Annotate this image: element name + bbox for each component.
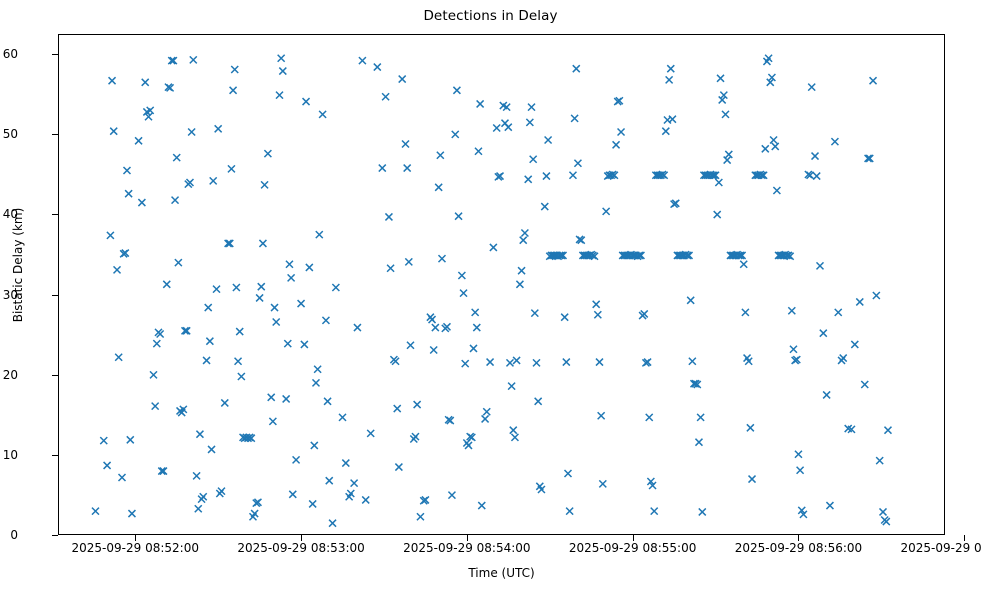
y-axis-label: Bistatic Delay (km) bbox=[11, 15, 25, 515]
scatter-point bbox=[714, 211, 721, 218]
scatter-point bbox=[326, 477, 333, 484]
x-tick-mark bbox=[964, 535, 965, 541]
scatter-point bbox=[613, 141, 620, 148]
scatter-point bbox=[666, 76, 673, 83]
scatter-point bbox=[354, 324, 361, 331]
scatter-point bbox=[264, 150, 271, 157]
scatter-point bbox=[667, 65, 674, 72]
scatter-point bbox=[561, 314, 568, 321]
scatter-point bbox=[119, 474, 126, 481]
scatter-point bbox=[448, 492, 455, 499]
scatter-point bbox=[387, 265, 394, 272]
scatter-point bbox=[483, 408, 490, 415]
scatter-point bbox=[510, 427, 517, 434]
scatter-point bbox=[884, 427, 891, 434]
scatter-point bbox=[203, 357, 210, 364]
scatter-point bbox=[311, 442, 318, 449]
scatter-point bbox=[772, 143, 779, 150]
chart-figure: Detections in Delay Bistatic Delay (km) … bbox=[0, 0, 981, 590]
scatter-point bbox=[135, 137, 142, 144]
scatter-point bbox=[379, 165, 386, 172]
scatter-point bbox=[200, 493, 207, 500]
scatter-point bbox=[873, 292, 880, 299]
scatter-point bbox=[646, 414, 653, 421]
scatter-point bbox=[861, 381, 868, 388]
x-tick-mark bbox=[135, 535, 136, 541]
scatter-point bbox=[687, 297, 694, 304]
scatter-point bbox=[206, 338, 213, 345]
x-tick-mark bbox=[633, 535, 634, 541]
scatter-point bbox=[230, 87, 237, 94]
scatter-point bbox=[531, 310, 538, 317]
scatter-point bbox=[342, 460, 349, 467]
scatter-point bbox=[545, 137, 552, 144]
scatter-point bbox=[533, 359, 540, 366]
scatter-point bbox=[516, 281, 523, 288]
scatter-point bbox=[324, 398, 331, 405]
scatter-point bbox=[407, 342, 414, 349]
scatter-point bbox=[173, 154, 180, 161]
scatter-point bbox=[543, 173, 550, 180]
scatter-point bbox=[508, 383, 515, 390]
scatter-point bbox=[329, 520, 336, 527]
scatter-point bbox=[172, 197, 179, 204]
scatter-point bbox=[238, 373, 245, 380]
scatter-point bbox=[452, 131, 459, 138]
scatter-point bbox=[359, 57, 366, 64]
y-tick-label: 60 bbox=[0, 48, 18, 60]
scatter-point bbox=[306, 264, 313, 271]
scatter-point bbox=[289, 491, 296, 498]
scatter-point bbox=[566, 508, 573, 515]
scatter-point bbox=[312, 379, 319, 386]
scatter-point bbox=[725, 151, 732, 158]
scatter-point bbox=[493, 124, 500, 131]
scatter-point bbox=[747, 424, 754, 431]
scatter-point bbox=[460, 290, 467, 297]
scatter-point bbox=[127, 436, 134, 443]
scatter-point bbox=[175, 259, 182, 266]
x-tick-mark bbox=[798, 535, 799, 541]
scatter-point bbox=[288, 274, 295, 281]
scatter-point bbox=[770, 137, 777, 144]
scatter-point bbox=[724, 157, 731, 164]
scatter-point bbox=[278, 55, 285, 62]
scatter-point bbox=[259, 240, 266, 247]
scatter-point bbox=[314, 366, 321, 373]
scatter-point bbox=[268, 394, 275, 401]
scatter-point bbox=[823, 391, 830, 398]
scatter-point bbox=[332, 284, 339, 291]
scatter-point bbox=[594, 311, 601, 318]
scatter-point bbox=[835, 309, 842, 316]
scatter-point bbox=[599, 480, 606, 487]
scatter-point bbox=[153, 340, 160, 347]
scatter-point bbox=[473, 324, 480, 331]
scatter-point bbox=[465, 442, 472, 449]
scatter-point bbox=[528, 104, 535, 111]
scatter-point bbox=[563, 359, 570, 366]
scatter-point bbox=[115, 354, 122, 361]
x-tick-label: 2025-09-29 08:57:00 bbox=[844, 542, 981, 554]
scatter-point bbox=[618, 128, 625, 135]
scatter-point bbox=[574, 160, 581, 167]
scatter-point bbox=[362, 496, 369, 503]
scatter-point bbox=[697, 414, 704, 421]
y-tick-mark bbox=[52, 535, 58, 536]
scatter-point bbox=[188, 128, 195, 135]
scatter-point bbox=[92, 508, 99, 515]
scatter-point bbox=[210, 177, 217, 184]
scatter-point bbox=[879, 508, 886, 515]
scatter-point bbox=[432, 324, 439, 331]
scatter-point bbox=[526, 119, 533, 126]
scatter-point bbox=[790, 346, 797, 353]
scatter-point bbox=[402, 141, 409, 148]
scatter-point bbox=[870, 77, 877, 84]
scatter-point bbox=[505, 124, 512, 131]
scatter-point bbox=[717, 75, 724, 82]
scatter-point bbox=[511, 434, 518, 441]
scatter-point bbox=[374, 64, 381, 71]
scatter-point bbox=[339, 414, 346, 421]
scatter-point bbox=[573, 65, 580, 72]
scatter-point bbox=[412, 433, 419, 440]
scatter-point bbox=[840, 355, 847, 362]
scatter-point bbox=[593, 301, 600, 308]
scatter-point bbox=[535, 398, 542, 405]
chart-title: Detections in Delay bbox=[0, 8, 981, 24]
scatter-point bbox=[405, 258, 412, 265]
scatter-point bbox=[470, 345, 477, 352]
plot-area bbox=[58, 34, 945, 535]
scatter-point bbox=[455, 213, 462, 220]
scatter-point bbox=[773, 187, 780, 194]
scatter-point bbox=[196, 431, 203, 438]
scatter-point bbox=[487, 359, 494, 366]
y-tick-label: 40 bbox=[0, 208, 18, 220]
scatter-point bbox=[669, 116, 676, 123]
scatter-point bbox=[742, 309, 749, 316]
scatter-point bbox=[279, 68, 286, 75]
scatter-point bbox=[213, 286, 220, 293]
scatter-point bbox=[851, 341, 858, 348]
scatter-point bbox=[235, 358, 242, 365]
scatter-point bbox=[114, 266, 121, 273]
scatter-point bbox=[394, 405, 401, 412]
scatter-point bbox=[820, 330, 827, 337]
scatter-point bbox=[385, 213, 392, 220]
scatter-point bbox=[150, 371, 157, 378]
scatter-point bbox=[218, 488, 225, 495]
scatter-point bbox=[271, 304, 278, 311]
scatter-point bbox=[258, 283, 265, 290]
scatter-point bbox=[603, 208, 610, 215]
scatter-point bbox=[273, 318, 280, 325]
scatter-point bbox=[876, 457, 883, 464]
scatter-point bbox=[316, 231, 323, 238]
scatter-point bbox=[722, 111, 729, 118]
scatter-point bbox=[518, 267, 525, 274]
scatter-point bbox=[100, 437, 107, 444]
scatter-point bbox=[797, 467, 804, 474]
scatter-point bbox=[453, 87, 460, 94]
scatter-point bbox=[477, 100, 484, 107]
scatter-point bbox=[831, 138, 838, 145]
scatter-point bbox=[236, 328, 243, 335]
scatter-point bbox=[437, 152, 444, 159]
scatter-point bbox=[231, 66, 238, 73]
scatter-point bbox=[152, 403, 159, 410]
scatter-point bbox=[816, 262, 823, 269]
scatter-point bbox=[715, 179, 722, 186]
scatter-point bbox=[190, 56, 197, 63]
y-tick-label: 20 bbox=[0, 369, 18, 381]
scatter-point bbox=[521, 229, 528, 236]
scatter-point bbox=[233, 284, 240, 291]
scatter-point bbox=[541, 203, 548, 210]
scatter-point bbox=[109, 77, 116, 84]
scatter-point bbox=[812, 153, 819, 160]
scatter-point bbox=[293, 456, 300, 463]
scatter-point bbox=[438, 255, 445, 262]
scatter-point bbox=[530, 156, 537, 163]
scatter-point bbox=[788, 307, 795, 314]
scatter-point bbox=[458, 272, 465, 279]
scatter-point bbox=[382, 93, 389, 100]
scatter-point bbox=[283, 395, 290, 402]
scatter-point bbox=[309, 500, 316, 507]
scatter-point bbox=[301, 341, 308, 348]
scatter-point bbox=[435, 184, 442, 191]
scatter-point bbox=[163, 281, 170, 288]
y-tick-label: 10 bbox=[0, 449, 18, 461]
scatter-point bbox=[128, 510, 135, 517]
scatter-point bbox=[351, 480, 358, 487]
scatter-point bbox=[399, 76, 406, 83]
scatter-point bbox=[472, 309, 479, 316]
scatter-point bbox=[104, 462, 111, 469]
scatter-point bbox=[762, 145, 769, 152]
scatter-point bbox=[195, 505, 202, 512]
scatter-point bbox=[284, 340, 291, 347]
scatter-point bbox=[749, 476, 756, 483]
scatter-point bbox=[513, 357, 520, 364]
scatter-point bbox=[475, 148, 482, 155]
scatter-point bbox=[208, 446, 215, 453]
y-tick-label: 50 bbox=[0, 128, 18, 140]
scatter-point bbox=[193, 472, 200, 479]
scatter-point bbox=[482, 415, 489, 422]
scatter-point bbox=[598, 412, 605, 419]
scatter-point bbox=[490, 244, 497, 251]
scatter-point bbox=[429, 316, 436, 323]
scatter-point bbox=[395, 464, 402, 471]
x-tick-mark bbox=[467, 535, 468, 541]
scatter-point bbox=[826, 502, 833, 509]
scatter-point bbox=[856, 298, 863, 305]
x-axis-label: Time (UTC) bbox=[58, 566, 945, 580]
scatter-point bbox=[319, 111, 326, 118]
scatter-point bbox=[662, 128, 669, 135]
scatter-point bbox=[256, 294, 263, 301]
scatter-point bbox=[695, 439, 702, 446]
scatter-point bbox=[125, 190, 132, 197]
scatter-point bbox=[740, 261, 747, 268]
scatter-point bbox=[699, 508, 706, 515]
scatter-point bbox=[367, 430, 374, 437]
scatter-point bbox=[525, 176, 532, 183]
scatter-point bbox=[689, 358, 696, 365]
scatter-point bbox=[571, 115, 578, 122]
scatter-point bbox=[138, 199, 145, 206]
scatter-point bbox=[261, 181, 268, 188]
scatter-points-layer bbox=[59, 35, 945, 535]
scatter-point bbox=[795, 451, 802, 458]
scatter-point bbox=[142, 79, 149, 86]
scatter-point bbox=[569, 172, 576, 179]
x-tick-mark bbox=[301, 535, 302, 541]
scatter-point bbox=[110, 128, 117, 135]
y-tick-label: 30 bbox=[0, 289, 18, 301]
scatter-point bbox=[404, 165, 411, 172]
scatter-point bbox=[269, 418, 276, 425]
scatter-point bbox=[651, 508, 658, 515]
scatter-point bbox=[123, 167, 130, 174]
scatter-point bbox=[303, 98, 310, 105]
scatter-point bbox=[276, 92, 283, 99]
scatter-point bbox=[228, 165, 235, 172]
scatter-point bbox=[506, 359, 513, 366]
scatter-point bbox=[215, 125, 222, 132]
scatter-point bbox=[221, 399, 228, 406]
scatter-point bbox=[205, 304, 212, 311]
scatter-series-detections bbox=[92, 55, 891, 527]
y-tick-label: 0 bbox=[0, 529, 18, 541]
scatter-point bbox=[813, 173, 820, 180]
scatter-point bbox=[808, 84, 815, 91]
scatter-point bbox=[298, 300, 305, 307]
scatter-point bbox=[520, 237, 527, 244]
scatter-point bbox=[322, 317, 329, 324]
scatter-point bbox=[417, 513, 424, 520]
scatter-point bbox=[596, 359, 603, 366]
scatter-point bbox=[286, 261, 293, 268]
scatter-point bbox=[564, 470, 571, 477]
scatter-point bbox=[462, 360, 469, 367]
scatter-point bbox=[430, 347, 437, 354]
scatter-point bbox=[478, 502, 485, 509]
scatter-point bbox=[107, 232, 114, 239]
scatter-point bbox=[414, 401, 421, 408]
